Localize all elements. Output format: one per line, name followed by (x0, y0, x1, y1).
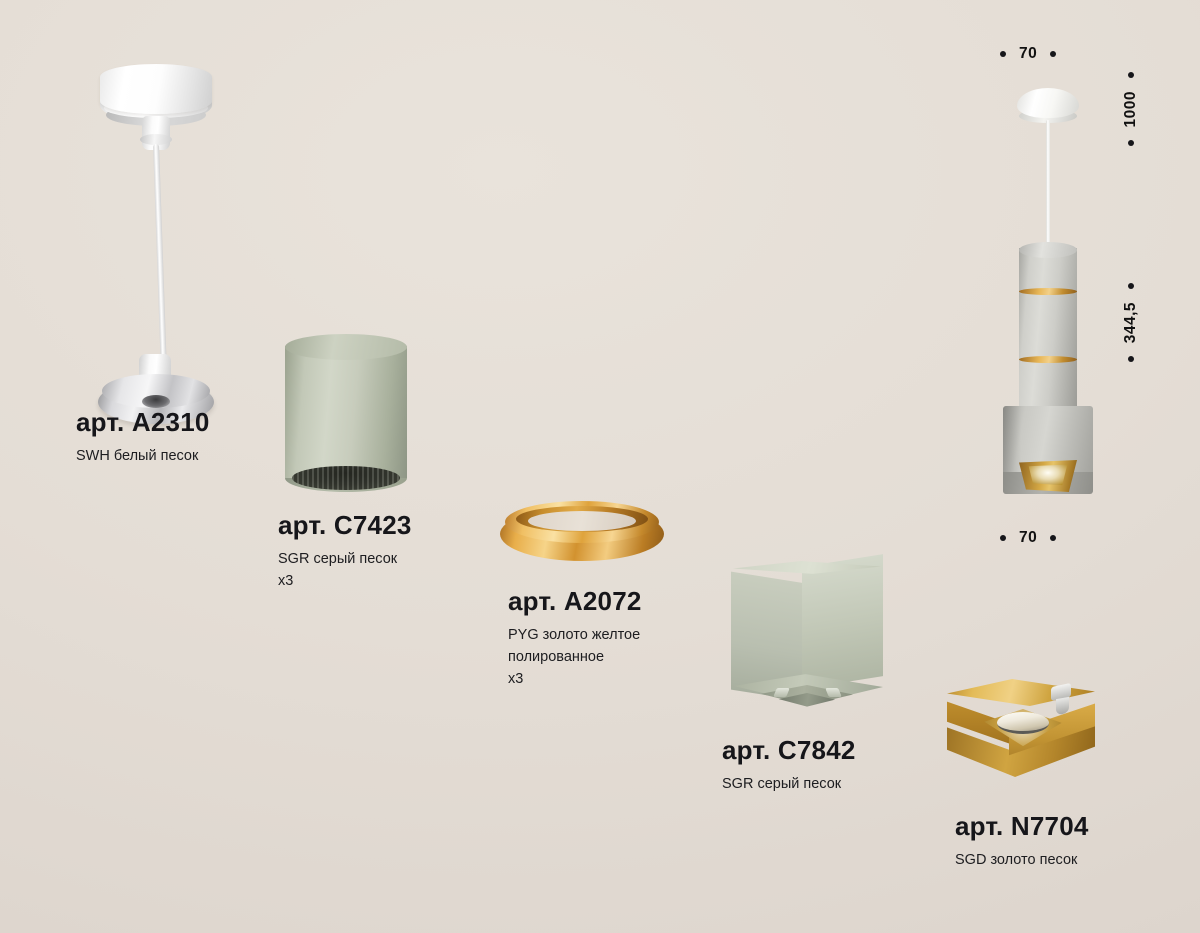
assembly-cable (1046, 120, 1050, 248)
cylinder-inner-reflector (292, 466, 400, 490)
assembly-gold-ring-lower (1019, 356, 1077, 363)
cube-right-face (802, 554, 883, 689)
assembly-canopy (1017, 88, 1079, 118)
product-specification-diagram: арт. A2310 SWH белый песок арт. C7423 SG… (0, 0, 1200, 933)
dimension-bottom-width: 70 (1000, 529, 1056, 547)
article-code-a2072: арт. A2072 (508, 587, 642, 617)
finish-n7704: SGD золото песок (955, 849, 1089, 871)
product-image-c7423 (285, 334, 407, 496)
dimension-fixture-height: 344,5 (1122, 283, 1140, 362)
dimension-dot (1128, 72, 1134, 78)
dimension-dot (1128, 356, 1134, 362)
label-n7704: арт. N7704 SGD золото песок (955, 812, 1089, 871)
product-image-n7704 (947, 679, 1095, 793)
article-code-n7704: арт. N7704 (955, 812, 1089, 842)
finish-c7842: SGR серый песок (722, 773, 856, 795)
cylinder-body (285, 346, 407, 478)
article-code-a2310: арт. A2310 (76, 408, 210, 438)
quantity-a2072: x3 (508, 668, 642, 690)
finish-a2072-line1: PYG золото желтое (508, 624, 642, 646)
dimension-dot (1128, 140, 1134, 146)
finish-a2310: SWH белый песок (76, 445, 210, 467)
dimension-top-width: 70 (1000, 45, 1056, 63)
dimension-value-total-drop: 1000 (1122, 91, 1140, 127)
assembly-cylinder-top (1019, 242, 1077, 258)
canopy-top (100, 64, 212, 114)
dimension-value-fixture-height: 344,5 (1122, 302, 1140, 343)
quantity-c7423: x3 (278, 570, 412, 592)
ring-aperture (528, 511, 636, 531)
label-c7842: арт. C7842 SGR серый песок (722, 736, 856, 795)
label-a2072: арт. A2072 PYG золото желтое полированно… (508, 587, 642, 690)
dimension-dot (1000, 535, 1006, 541)
dimension-dot (1128, 283, 1134, 289)
square-lamp-module (997, 712, 1049, 734)
dimension-total-drop: 1000 (1122, 72, 1140, 146)
finish-a2072-line2: полированное (508, 646, 642, 668)
dimension-dot (1050, 535, 1056, 541)
mounting-spring-clip (1051, 685, 1073, 719)
product-image-a2310 (92, 58, 222, 398)
product-image-a2072 (500, 499, 664, 561)
dimension-dot (1050, 51, 1056, 57)
assembly-cylinder (1019, 248, 1077, 420)
cylinder-top (285, 334, 407, 360)
article-code-c7842: арт. C7842 (722, 736, 856, 766)
assembly-gold-ring-upper (1019, 288, 1077, 295)
assembled-pendant-illustration (995, 88, 1105, 500)
dimension-dot (1000, 51, 1006, 57)
suspension-cable (153, 144, 167, 370)
product-image-c7842 (731, 561, 883, 729)
dimension-value-bottom-width: 70 (1019, 529, 1037, 547)
assembly-light-aperture (1027, 464, 1069, 486)
label-a2310: арт. A2310 SWH белый песок (76, 408, 210, 467)
dimension-value-top-width: 70 (1019, 45, 1037, 63)
finish-c7423: SGR серый песок (278, 548, 412, 570)
label-c7423: арт. C7423 SGR серый песок x3 (278, 511, 412, 592)
article-code-c7423: арт. C7423 (278, 511, 412, 541)
